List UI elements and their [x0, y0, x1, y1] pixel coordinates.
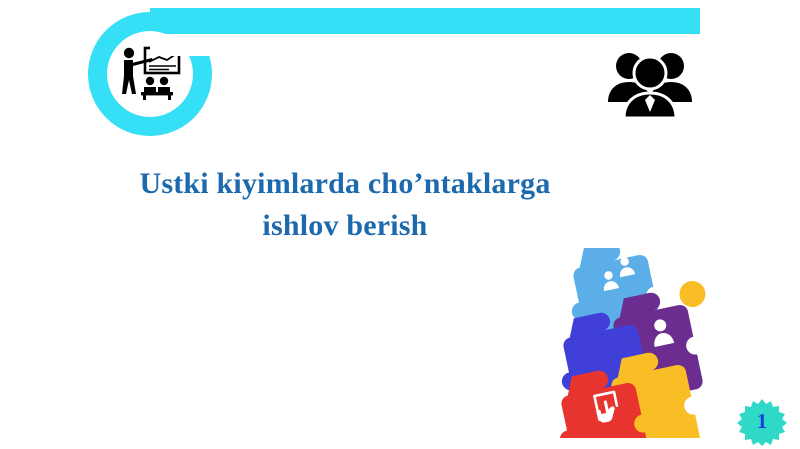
title-line-1: Ustki kiyimlarda cho’ntaklarga — [60, 163, 630, 205]
puzzle-pieces-graphic — [558, 248, 728, 438]
top-accent-bar — [150, 8, 700, 34]
title-line-2: ishlov berish — [60, 205, 630, 247]
ring-bar-joint — [150, 34, 230, 56]
logo-ring — [88, 12, 212, 136]
page-number-badge: 1 — [736, 398, 788, 446]
group-of-people-icon — [604, 38, 696, 130]
page-number-text: 1 — [736, 398, 788, 446]
presentation-slide: Ustki kiyimlarda cho’ntaklarga ishlov be… — [0, 0, 800, 449]
page-title: Ustki kiyimlarda cho’ntaklarga ishlov be… — [60, 163, 630, 247]
